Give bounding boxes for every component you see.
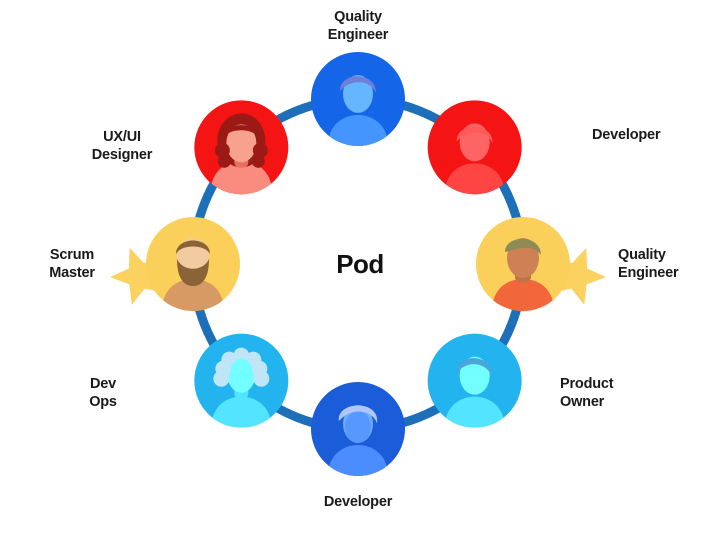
node-product-owner[interactable]: [428, 334, 522, 428]
label-quality-engineer-top: Quality Engineer: [268, 8, 448, 44]
node-dev-ops[interactable]: [194, 334, 288, 428]
node-quality-engineer-top[interactable]: [311, 52, 405, 146]
label-ux-ui-designer: UX/UI Designer: [32, 128, 212, 164]
label-scrum-master: Scrum Master: [0, 246, 162, 282]
label-quality-engineer-right: Quality Engineer: [618, 246, 678, 282]
label-product-owner: Product Owner: [560, 375, 613, 411]
label-developer-bottom: Developer: [268, 493, 448, 511]
label-dev-ops: Dev Ops: [13, 375, 193, 411]
node-developer-right[interactable]: [428, 100, 522, 194]
label-developer-right: Developer: [592, 126, 660, 144]
diagram-canvas: Pod Quality EngineerDeveloperQuality Eng…: [0, 0, 720, 539]
node-developer-bottom[interactable]: [311, 382, 405, 476]
